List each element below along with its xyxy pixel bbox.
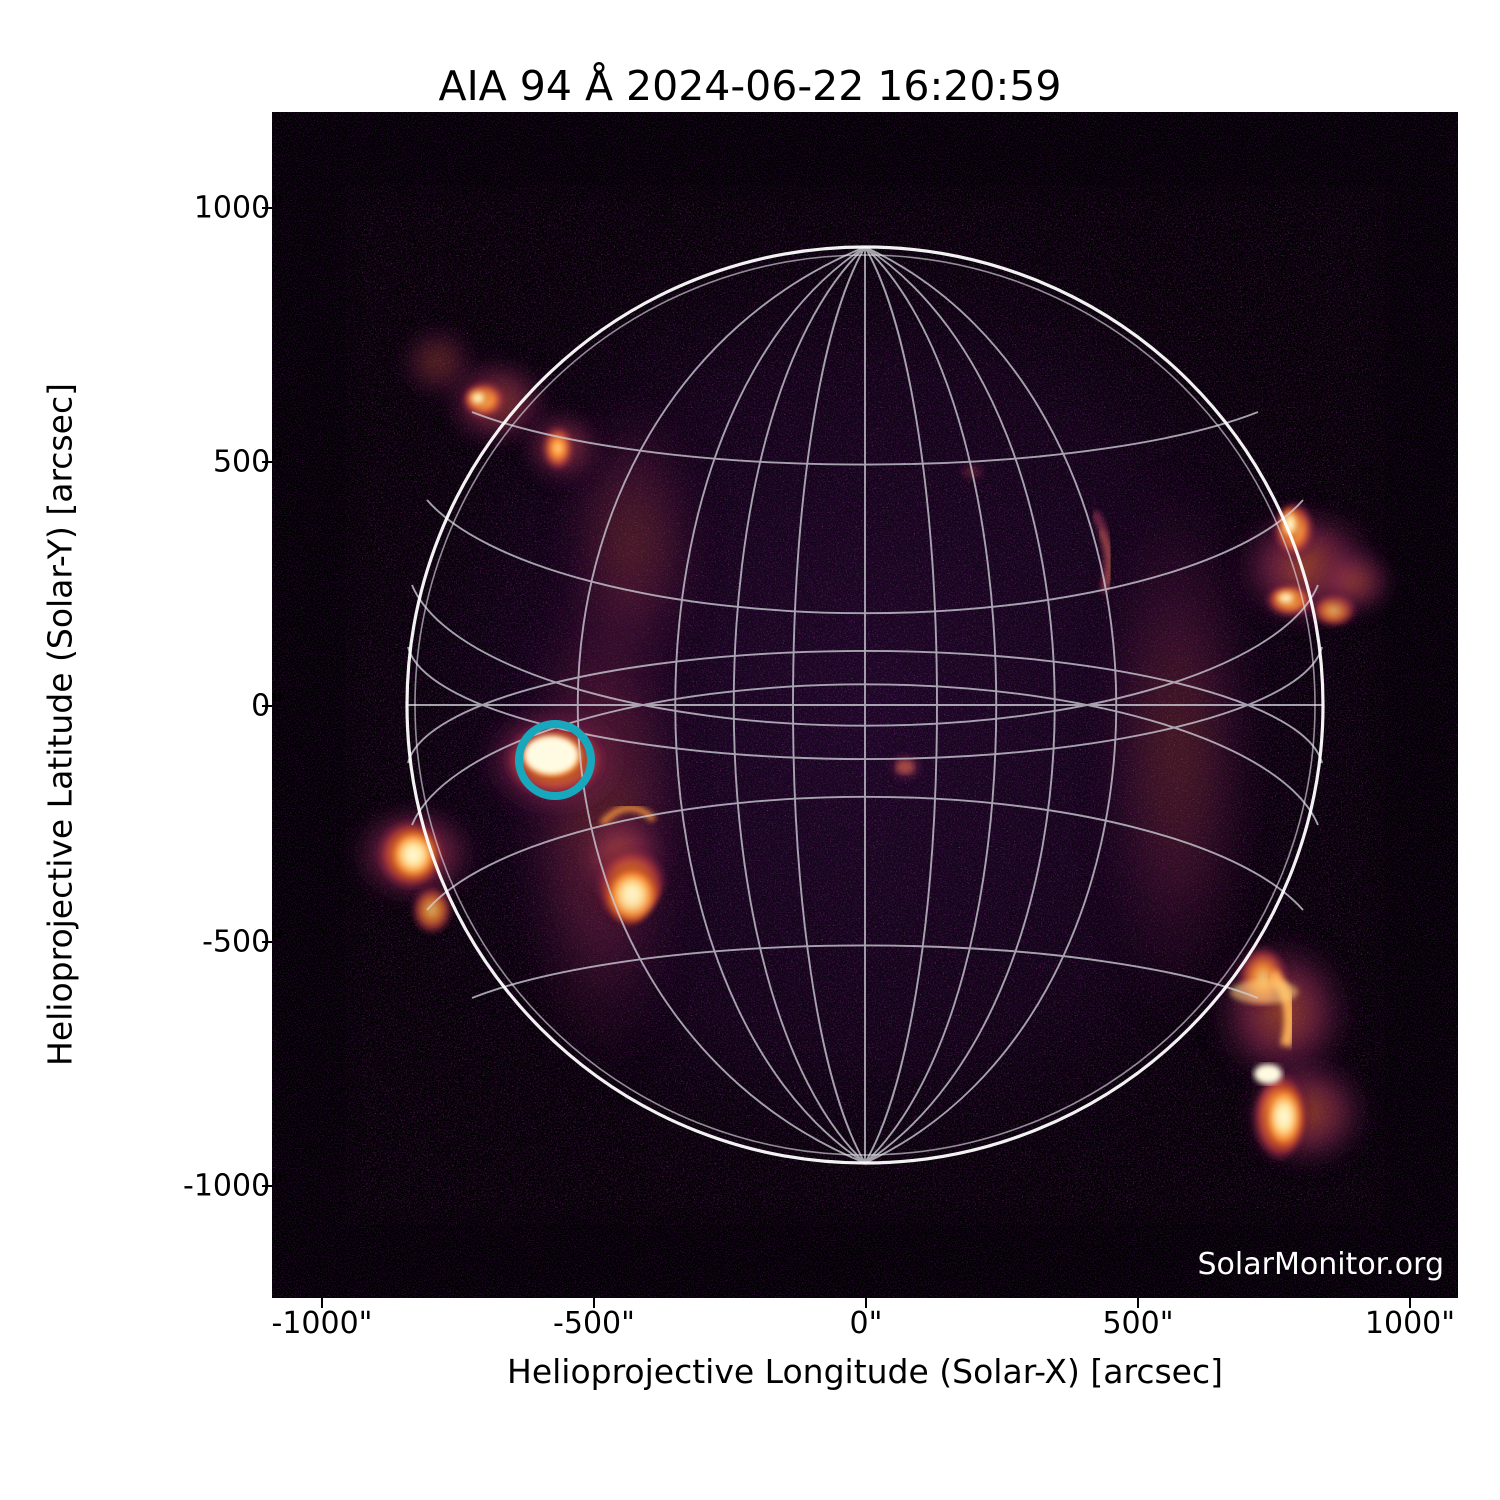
active-region-south-east-limb <box>1235 1046 1379 1178</box>
y-tick-label-0: 0" <box>251 689 284 724</box>
y-tick-label-1000: 1000" <box>194 191 284 226</box>
solar-image-plot-area[interactable]: SolarMonitor.org <box>272 112 1458 1298</box>
y-tick-label-minus1000: -1000" <box>183 1169 284 1204</box>
solar-image-figure: AIA 94 Å 2024-06-22 16:20:59 <box>0 0 1500 1500</box>
x-axis-label: Helioprojective Longitude (Solar-X) [arc… <box>272 1352 1458 1391</box>
x-tick-label-minus500: -500" <box>553 1306 635 1341</box>
solar-disk-render <box>272 112 1458 1298</box>
x-tick-label-500: 500" <box>1102 1306 1173 1341</box>
x-tick-label-minus1000: -1000" <box>272 1306 373 1341</box>
page-title: AIA 94 Å 2024-06-22 16:20:59 <box>0 62 1500 110</box>
x-tick-label-0: 0" <box>850 1306 883 1341</box>
y-axis-label: Helioprojective Latitude (Solar-Y) [arcs… <box>41 225 80 1225</box>
y-tick-label-500: 500" <box>213 445 284 480</box>
y-tick-label-minus500: -500" <box>202 925 284 960</box>
x-tick-label-1000: 1000" <box>1365 1306 1455 1341</box>
disk-center-faint-region <box>884 749 928 785</box>
watermark-solarmonitor: SolarMonitor.org <box>1198 1247 1444 1282</box>
